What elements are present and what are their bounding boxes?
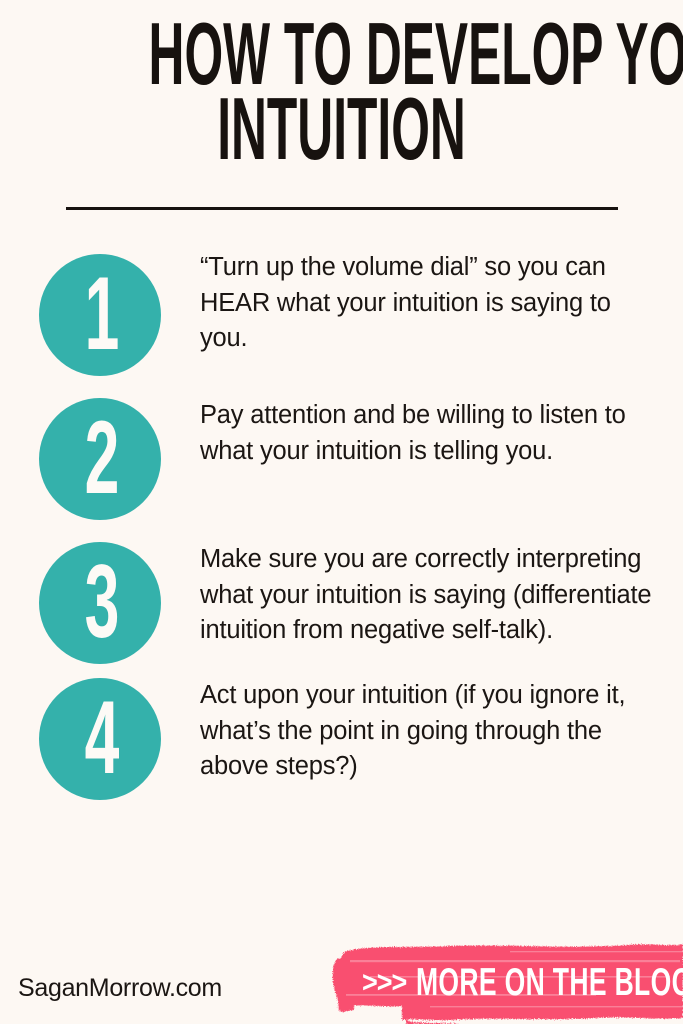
step-number-badge: 1 bbox=[39, 254, 161, 376]
step-number: 1 bbox=[85, 262, 120, 366]
more-on-the-blog-button[interactable]: >>> More on the blog bbox=[310, 936, 683, 1024]
step-badge-wrap: 4 bbox=[0, 678, 200, 800]
blog-cta-label: More on the blog bbox=[416, 963, 683, 1002]
steps-list: 1 “Turn up the volume dial” so you can H… bbox=[0, 250, 683, 800]
step-badge-wrap: 1 bbox=[0, 250, 200, 376]
step-description: Pay attention and be willing to listen t… bbox=[200, 398, 683, 469]
step-number-badge: 4 bbox=[39, 678, 161, 800]
title-line-2: Intuition bbox=[149, 89, 535, 170]
step-badge-wrap: 3 bbox=[0, 542, 200, 664]
list-item: 1 “Turn up the volume dial” so you can H… bbox=[0, 250, 683, 376]
step-badge-wrap: 2 bbox=[0, 398, 200, 520]
step-number: 4 bbox=[85, 686, 120, 790]
step-number: 3 bbox=[85, 550, 120, 654]
step-description: Act upon your intuition (if you ignore i… bbox=[200, 678, 683, 785]
step-number-badge: 3 bbox=[39, 542, 161, 664]
site-name: SaganMorrow.com bbox=[18, 974, 222, 1003]
step-description: “Turn up the volume dial” so you can HEA… bbox=[200, 250, 683, 357]
step-number: 2 bbox=[85, 406, 120, 510]
step-description: Make sure you are correctly interpreting… bbox=[200, 542, 683, 649]
list-item: 3 Make sure you are correctly interpreti… bbox=[0, 542, 683, 664]
list-item: 2 Pay attention and be willing to listen… bbox=[0, 398, 683, 520]
infographic-canvas: How to develop your Intuition 1 “Turn up… bbox=[0, 0, 683, 1024]
step-number-badge: 2 bbox=[39, 398, 161, 520]
title-divider bbox=[66, 207, 618, 210]
list-item: 4 Act upon your intuition (if you ignore… bbox=[0, 678, 683, 800]
chevrons-icon: >>> bbox=[362, 965, 406, 999]
blog-cta-label-group: >>> More on the blog bbox=[362, 962, 683, 1002]
page-title: How to develop your Intuition bbox=[0, 14, 683, 170]
